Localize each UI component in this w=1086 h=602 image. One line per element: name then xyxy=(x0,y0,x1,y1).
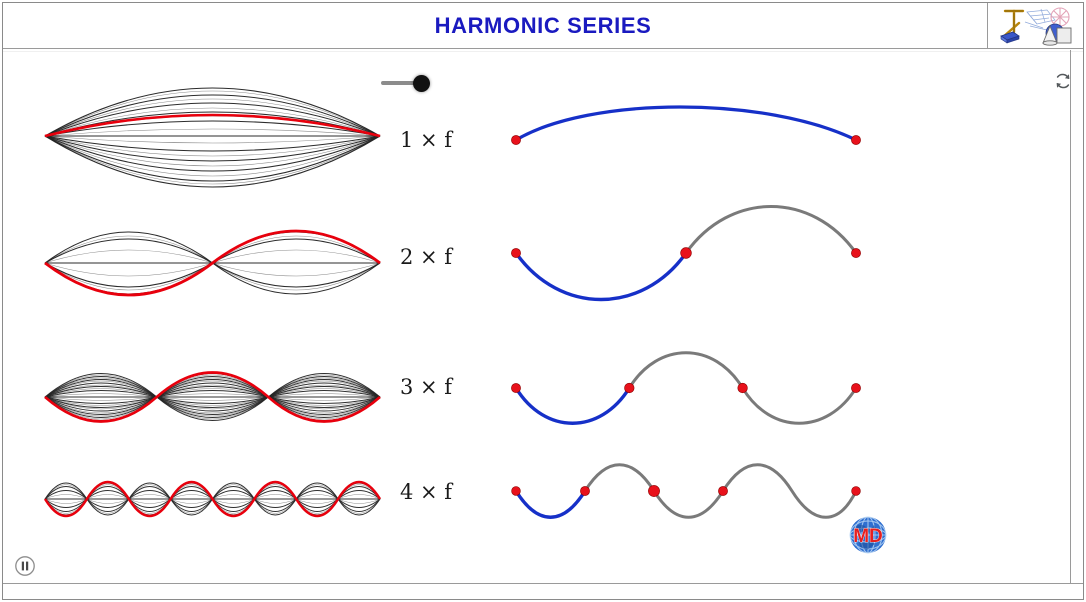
node-dot xyxy=(580,486,589,495)
node-dot xyxy=(852,487,861,496)
pause-button[interactable] xyxy=(14,555,36,577)
node-dot xyxy=(625,383,635,393)
pause-icon xyxy=(14,555,36,577)
harmonic-label-3: 3 × f xyxy=(400,375,452,399)
harmonic-row-3: 3 × f xyxy=(0,332,1080,442)
mode-shape-4 xyxy=(500,470,880,540)
node-dot xyxy=(718,486,727,495)
mode-segment-blue-1 xyxy=(516,107,856,140)
snapshot-trace-1 xyxy=(45,115,380,136)
harmonic-label-1: 1 × f xyxy=(400,128,452,152)
node-dot xyxy=(511,135,520,144)
header-logo xyxy=(987,3,1083,48)
node-dot xyxy=(851,135,860,144)
node-dot xyxy=(851,248,860,257)
mode-segment-gray-2 xyxy=(686,207,856,254)
node-dot xyxy=(511,248,520,257)
mode-shape-3 xyxy=(500,360,880,440)
node-dot xyxy=(648,485,659,496)
node-dot xyxy=(738,383,748,393)
header-bar: HARMONIC SERIES xyxy=(3,3,1083,49)
mode-shape-1 xyxy=(500,108,880,188)
standing-wave-3 xyxy=(40,354,390,440)
page-title: HARMONIC SERIES xyxy=(3,3,1083,48)
node-dot xyxy=(851,383,860,392)
status-bar xyxy=(3,583,1083,599)
harmonic-label-4: 4 × f xyxy=(400,480,452,504)
harmonic-row-1: 1 × f xyxy=(0,50,1080,180)
harmonic-row-4: 4 × f xyxy=(0,450,1080,550)
node-dot xyxy=(681,248,692,259)
harmonic-label-2: 2 × f xyxy=(400,245,452,269)
harmonic-series-app: HARMONIC SERIES xyxy=(0,0,1086,602)
standing-wave-1 xyxy=(40,76,390,196)
standing-wave-4 xyxy=(40,464,390,534)
node-dot xyxy=(512,487,521,496)
mode-shape-2 xyxy=(500,223,880,313)
node-dot xyxy=(511,383,520,392)
mode-segment-blue-3 xyxy=(516,388,629,423)
harmonic-row-2: 2 × f xyxy=(0,195,1080,315)
standing-wave-2 xyxy=(40,213,390,313)
drafting-tools-logo-icon xyxy=(997,6,1075,46)
mode-segment-blue-4 xyxy=(516,491,585,517)
mode-segment-blue-2 xyxy=(516,253,686,300)
